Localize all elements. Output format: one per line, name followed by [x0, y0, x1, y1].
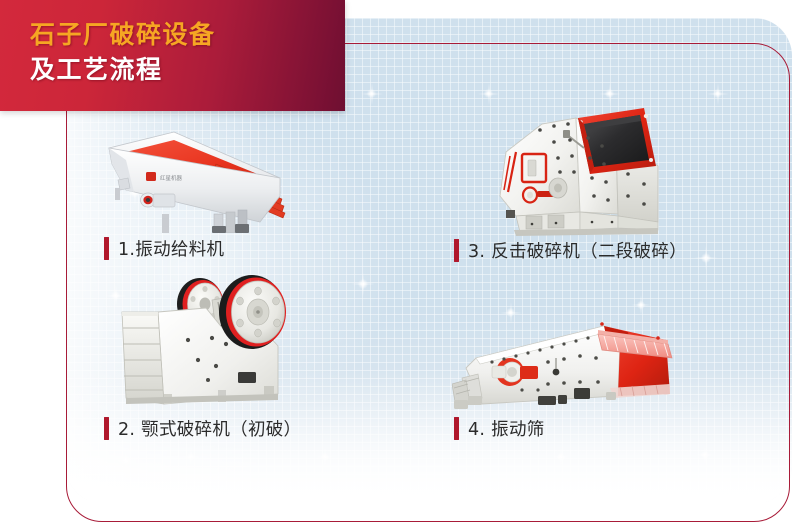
banner-title: 石子厂破碎设备 及工艺流程: [30, 17, 216, 87]
svg-text:红星机器: 红星机器: [160, 174, 183, 182]
item-label-text: 1.振动给料机: [118, 236, 224, 261]
equipment-impact-crusher: [480, 104, 675, 236]
banner-title-line1: 石子厂破碎设备: [30, 17, 216, 52]
banner-title-line2: 及工艺流程: [30, 52, 216, 87]
equipment-vibrating-feeder: 红星机器: [104, 118, 294, 233]
item-label-text: 4. 振动筛: [468, 416, 545, 441]
label-accent-bar: [454, 239, 459, 262]
infographic-stage: 红星机器 1.振动给料机: [0, 0, 800, 530]
item-label-4: 4. 振动筛: [454, 416, 545, 441]
item-label-3: 3. 反击破碎机（二段破碎）: [454, 238, 687, 263]
item-label-2: 2. 颚式破碎机（初破）: [104, 416, 301, 441]
equipment-vibrating-screen: [452, 300, 677, 418]
label-accent-bar: [454, 417, 459, 440]
equipment-jaw-crusher: [112, 268, 317, 408]
label-accent-bar: [104, 237, 109, 260]
item-label-1: 1.振动给料机: [104, 236, 224, 261]
label-accent-bar: [104, 417, 109, 440]
item-label-text: 3. 反击破碎机（二段破碎）: [468, 238, 687, 263]
title-banner: 石子厂破碎设备 及工艺流程: [0, 0, 345, 111]
item-label-text: 2. 颚式破碎机（初破）: [118, 416, 301, 441]
